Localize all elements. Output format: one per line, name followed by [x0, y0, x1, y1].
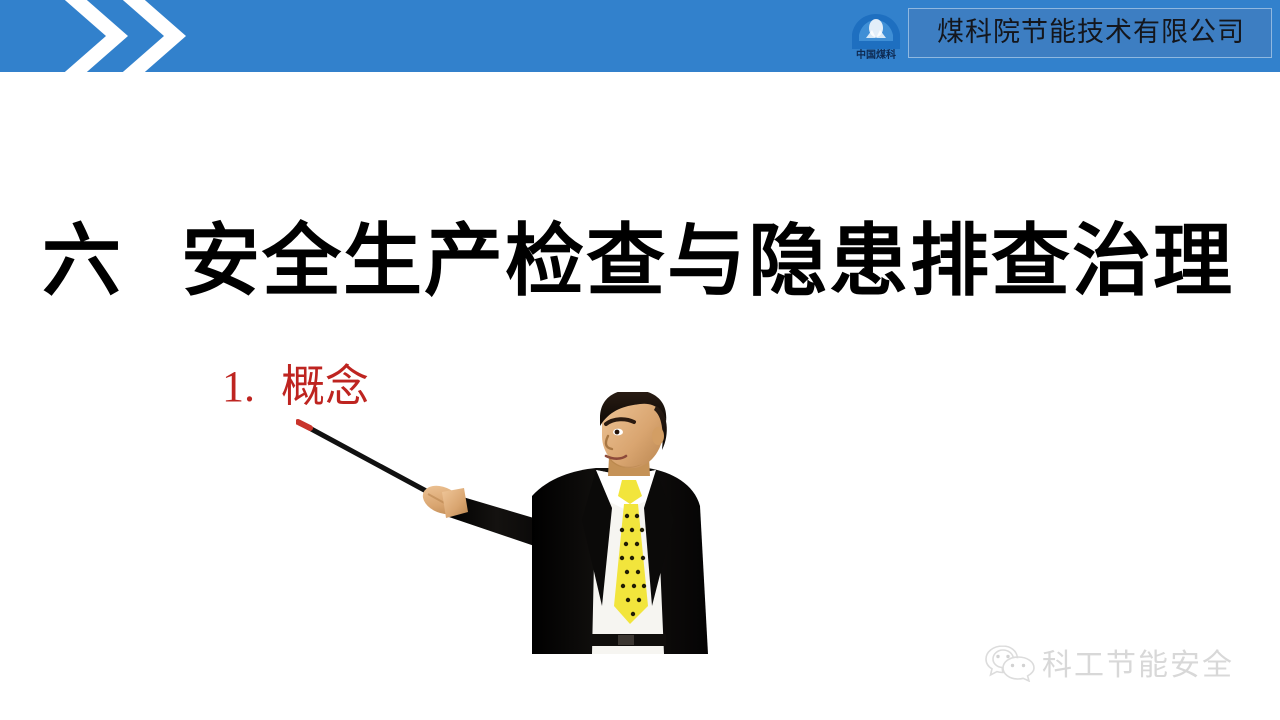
wechat-watermark: 科工节能安全 — [984, 634, 1244, 690]
company-name-box: 煤科院节能技术有限公司 — [908, 8, 1272, 58]
page-title: 六安全生产检查与隐患排查治理 — [42, 218, 1252, 304]
double-chevron-right-icon — [28, 0, 208, 72]
section-subheading-number: 1. — [222, 362, 255, 411]
watermark-label: 科工节能安全 — [1042, 640, 1234, 684]
presentation-slide: 中国煤科 煤科院节能技术有限公司 六安全生产检查与隐患排查治理 1.概念 — [0, 0, 1280, 720]
page-title-number: 六 — [42, 214, 123, 307]
slide-header-band: 中国煤科 煤科院节能技术有限公司 — [0, 0, 1280, 72]
company-name-label: 煤科院节能技术有限公司 — [909, 9, 1273, 57]
businessman-with-pointer-photo — [296, 392, 726, 654]
wechat-icon — [984, 642, 1036, 682]
logo-subtitle: 中国煤科 — [845, 46, 907, 61]
page-title-text: 安全生产检查与隐患排查治理 — [181, 214, 1234, 307]
